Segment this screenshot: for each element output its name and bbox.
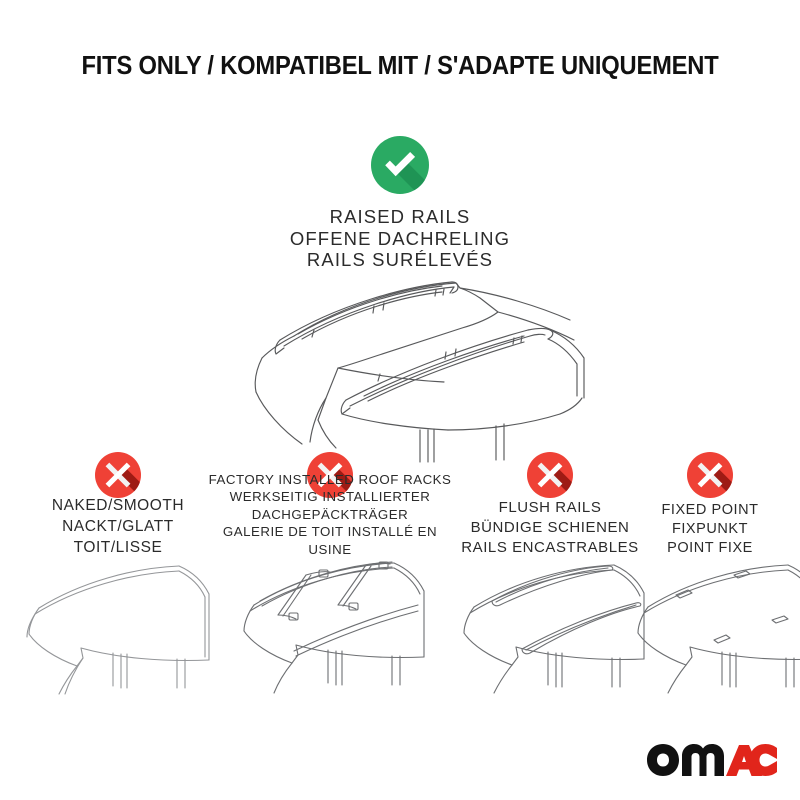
check-circle-icon xyxy=(371,136,429,194)
label-en: FIXED POINT xyxy=(632,501,788,520)
car-roof-bare-illustration xyxy=(11,560,226,695)
incompatible-labels-naked-smooth: NAKED/SMOOTH NACKT/GLATT TOIT/LISSE xyxy=(8,495,228,558)
compatible-label-de: OFFENE DACHRELING xyxy=(0,228,800,250)
compatible-label-en: RAISED RAILS xyxy=(0,206,800,228)
cross-circle-icon xyxy=(687,452,733,498)
incompatible-labels-flush-rails: FLUSH RAILS BÜNDIGE SCHIENEN RAILS ENCAS… xyxy=(448,498,652,558)
label-de: BÜNDIGE SCHIENEN xyxy=(448,518,652,538)
compatible-section: RAISED RAILS OFFENE DACHRELING RAILS SUR… xyxy=(0,136,800,271)
label-en: FLUSH RAILS xyxy=(448,498,652,518)
label-de: FIXPUNKT xyxy=(632,520,788,539)
cross-circle-icon xyxy=(95,452,141,498)
brand-name: OMAC xyxy=(0,0,1,1)
label-de-2: DACHGEPÄCKTRÄGER xyxy=(208,506,452,524)
cross-circle-icon xyxy=(527,452,573,498)
page-title: FITS ONLY / KOMPATIBEL MIT / S'ADAPTE UN… xyxy=(28,52,772,81)
compatible-labels: RAISED RAILS OFFENE DACHRELING RAILS SUR… xyxy=(0,206,800,271)
incompatible-item-naked-smooth: NAKED/SMOOTH NACKT/GLATT TOIT/LISSE xyxy=(8,452,228,800)
label-de-1: WERKSEITIG INSTALLIERTER xyxy=(208,488,452,506)
logo-letter-o xyxy=(647,744,679,776)
incompatible-labels-fixed-point: FIXED POINT FIXPUNKT POINT FIXE xyxy=(632,501,788,558)
label-de: NACKT/GLATT xyxy=(8,516,228,537)
car-roof-with-crossbars-illustration xyxy=(220,553,442,695)
incompatible-item-factory-racks: FACTORY INSTALLED ROOF RACKS WERKSEITIG … xyxy=(208,452,452,800)
label-fr: RAILS ENCASTRABLES xyxy=(448,538,652,558)
label-fr: TOIT/LISSE xyxy=(8,537,228,558)
car-roof-with-fixed-points-illustration xyxy=(622,557,800,695)
omac-logo xyxy=(646,742,778,778)
logo-letter-m xyxy=(682,744,724,776)
label-fr: POINT FIXE xyxy=(632,539,788,558)
label-en: FACTORY INSTALLED ROOF RACKS xyxy=(208,471,452,489)
incompatible-labels-factory-racks: FACTORY INSTALLED ROOF RACKS WERKSEITIG … xyxy=(208,471,452,559)
compatible-label-fr: RAILS SURÉLEVÉS xyxy=(0,249,800,271)
label-en: NAKED/SMOOTH xyxy=(8,495,228,516)
car-roof-with-raised-rails-illustration xyxy=(198,278,608,463)
